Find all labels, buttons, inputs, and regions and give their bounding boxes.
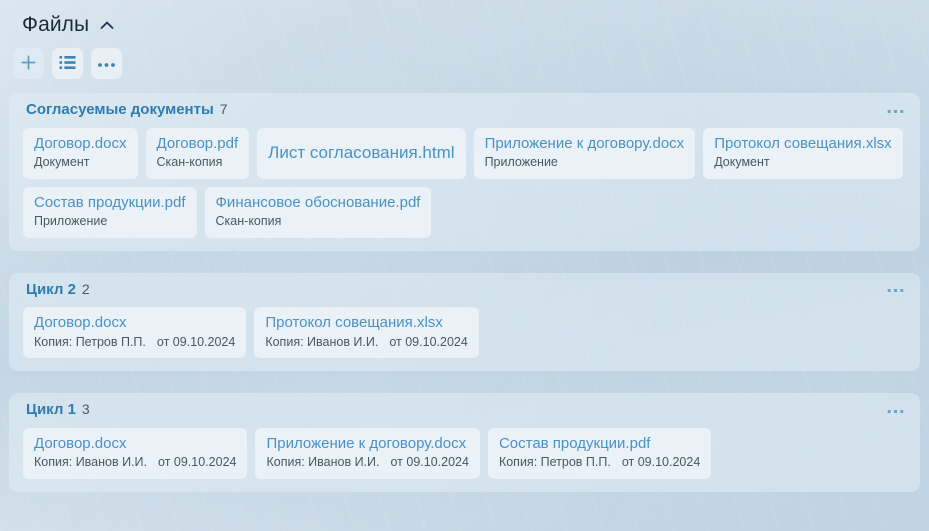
file-name: Приложение к договору.docx [485, 135, 685, 154]
file-chip[interactable]: Протокол совещания.xlsxКопия: Иванов И.И… [254, 307, 478, 358]
file-section: Цикл 22Договор.docxКопия: Петров П.П.от … [9, 273, 920, 372]
file-name: Финансовое обоснование.pdf [216, 194, 421, 213]
file-meta: Копия: Петров П.П.от 09.10.2024 [499, 454, 700, 470]
section-menu-button[interactable] [884, 283, 906, 299]
file-chip[interactable]: Состав продукции.pdfКопия: Петров П.П.от… [488, 428, 711, 479]
file-meta: Копия: Петров П.П.от 09.10.2024 [34, 334, 235, 350]
file-subtitle: Приложение [485, 154, 558, 170]
plus-icon [19, 53, 38, 75]
section-header: Цикл 22 [23, 282, 906, 299]
add-file-button[interactable] [13, 48, 44, 79]
file-chip[interactable]: Состав продукции.pdfПриложение [23, 187, 197, 238]
file-meta: Документ [714, 154, 891, 170]
file-date: от 09.10.2024 [622, 454, 700, 470]
section-title: Цикл 1 [26, 402, 76, 419]
file-meta: Копия: Иванов И.И.от 09.10.2024 [34, 454, 236, 470]
file-subtitle: Документ [34, 154, 89, 170]
file-date: от 09.10.2024 [391, 454, 469, 470]
file-subtitle: Скан-копия [157, 154, 223, 170]
file-subtitle: Копия: Петров П.П. [499, 454, 611, 470]
file-subtitle: Копия: Петров П.П. [34, 334, 146, 350]
file-meta: Копия: Иванов И.И.от 09.10.2024 [265, 334, 467, 350]
file-chip[interactable]: Приложение к договору.docxКопия: Иванов … [255, 428, 479, 479]
file-chip[interactable]: Договор.docxКопия: Иванов И.И.от 09.10.2… [23, 428, 247, 479]
file-subtitle: Копия: Иванов И.И. [265, 334, 378, 350]
file-name: Состав продукции.pdf [34, 194, 186, 213]
list-view-button[interactable] [52, 48, 83, 79]
file-meta: Скан-копия [216, 213, 421, 229]
file-name: Договор.docx [34, 435, 236, 454]
file-chip[interactable]: Договор.docxДокумент [23, 128, 138, 179]
file-meta: Приложение [485, 154, 685, 170]
file-chip[interactable]: Приложение к договору.docxПриложение [474, 128, 696, 179]
ellipsis-icon [97, 56, 116, 71]
section-menu-button[interactable] [884, 103, 906, 119]
files-toolbar [0, 39, 929, 79]
file-date: от 09.10.2024 [157, 334, 235, 350]
more-options-button[interactable] [91, 48, 122, 79]
file-chip[interactable]: Финансовое обоснование.pdfСкан-копия [205, 187, 432, 238]
file-name: Приложение к договору.docx [266, 435, 468, 454]
file-name: Договор.pdf [157, 135, 239, 154]
section-count: 7 [220, 102, 228, 117]
file-chip[interactable]: Лист согласования.html [257, 128, 465, 179]
file-chip[interactable]: Протокол совещания.xlsxДокумент [703, 128, 902, 179]
file-subtitle: Копия: Иванов И.И. [34, 454, 147, 470]
file-name: Лист согласования.html [268, 142, 454, 163]
file-meta: Документ [34, 154, 127, 170]
file-chip-row: Договор.docxКопия: Иванов И.И.от 09.10.2… [23, 428, 906, 479]
file-chip-row: Договор.docxКопия: Петров П.П.от 09.10.2… [23, 307, 906, 358]
file-name: Протокол совещания.xlsx [714, 135, 891, 154]
file-section: Согласуемые документы7Договор.docxДокуме… [9, 93, 920, 251]
section-header: Согласуемые документы7 [23, 102, 906, 119]
file-date: от 09.10.2024 [389, 334, 467, 350]
file-chip-row: Договор.docxДокументДоговор.pdfСкан-копи… [23, 128, 906, 238]
section-menu-button[interactable] [884, 403, 906, 419]
file-subtitle: Приложение [34, 213, 107, 229]
section-title: Согласуемые документы [26, 102, 214, 119]
file-meta: Копия: Иванов И.И.от 09.10.2024 [266, 454, 468, 470]
file-chip[interactable]: Договор.pdfСкан-копия [146, 128, 250, 179]
section-title: Цикл 2 [26, 282, 76, 299]
chevron-up-icon[interactable] [98, 17, 116, 35]
file-name: Договор.docx [34, 135, 127, 154]
file-subtitle: Документ [714, 154, 769, 170]
file-subtitle: Скан-копия [216, 213, 282, 229]
file-meta: Скан-копия [157, 154, 239, 170]
file-sections: Согласуемые документы7Договор.docxДокуме… [0, 93, 929, 492]
page-title: Файлы [22, 14, 89, 35]
file-name: Протокол совещания.xlsx [265, 314, 467, 333]
file-date: от 09.10.2024 [158, 454, 236, 470]
file-section: Цикл 13Договор.docxКопия: Иванов И.И.от … [9, 393, 920, 492]
files-panel: Файлы [0, 0, 929, 492]
file-meta: Приложение [34, 213, 186, 229]
file-subtitle: Копия: Иванов И.И. [266, 454, 379, 470]
section-count: 3 [82, 402, 90, 417]
file-chip[interactable]: Договор.docxКопия: Петров П.П.от 09.10.2… [23, 307, 246, 358]
file-name: Состав продукции.pdf [499, 435, 700, 454]
file-name: Договор.docx [34, 314, 235, 333]
section-header: Цикл 13 [23, 402, 906, 419]
panel-header: Файлы [0, 0, 929, 39]
list-icon [59, 55, 76, 73]
section-count: 2 [82, 282, 90, 297]
